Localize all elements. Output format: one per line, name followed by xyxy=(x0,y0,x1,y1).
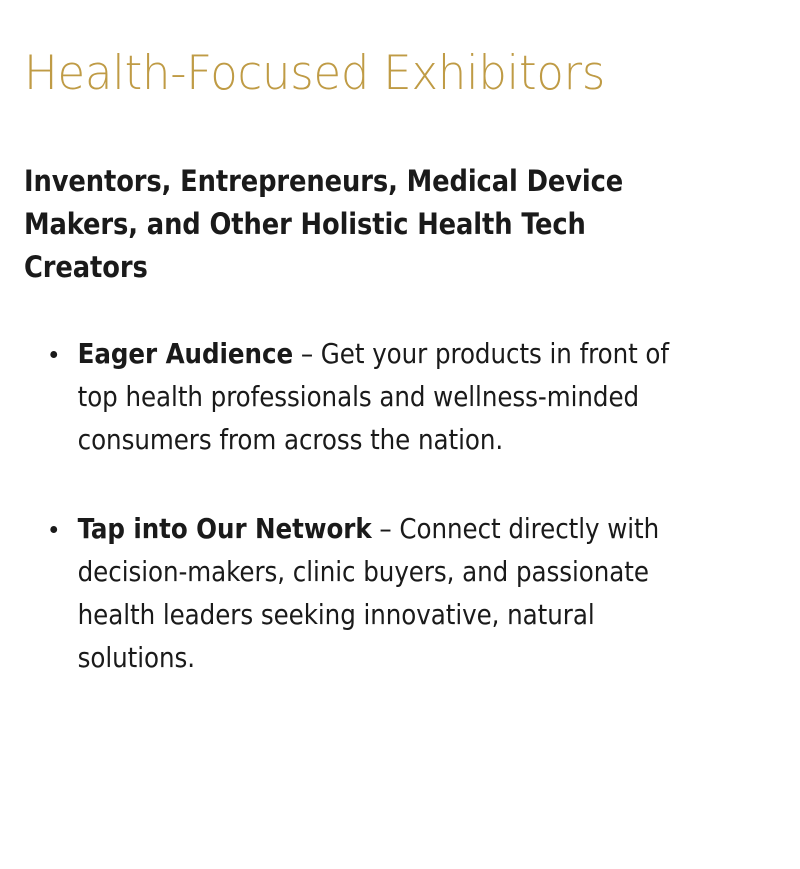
list-item: Eager Audience – Get your products in fr… xyxy=(24,332,707,461)
slide-canvas: Health-Focused Exhibitors Inventors, Ent… xyxy=(0,0,800,869)
page-subtitle: Inventors, Entrepreneurs, Medical Device… xyxy=(24,160,672,289)
list-item: Tap into Our Network – Connect directly … xyxy=(24,507,707,679)
bullet-point-icon xyxy=(50,351,57,358)
bullet-point-icon xyxy=(50,526,57,533)
list-item-lead-label: Eager Audience xyxy=(78,337,293,370)
list-item-dash: – xyxy=(372,512,400,545)
page-title: Health-Focused Exhibitors xyxy=(24,48,721,101)
benefit-list: Eager Audience – Get your products in fr… xyxy=(24,332,724,679)
list-item-dash: – xyxy=(293,337,321,370)
list-item-lead-label: Tap into Our Network xyxy=(78,512,372,545)
